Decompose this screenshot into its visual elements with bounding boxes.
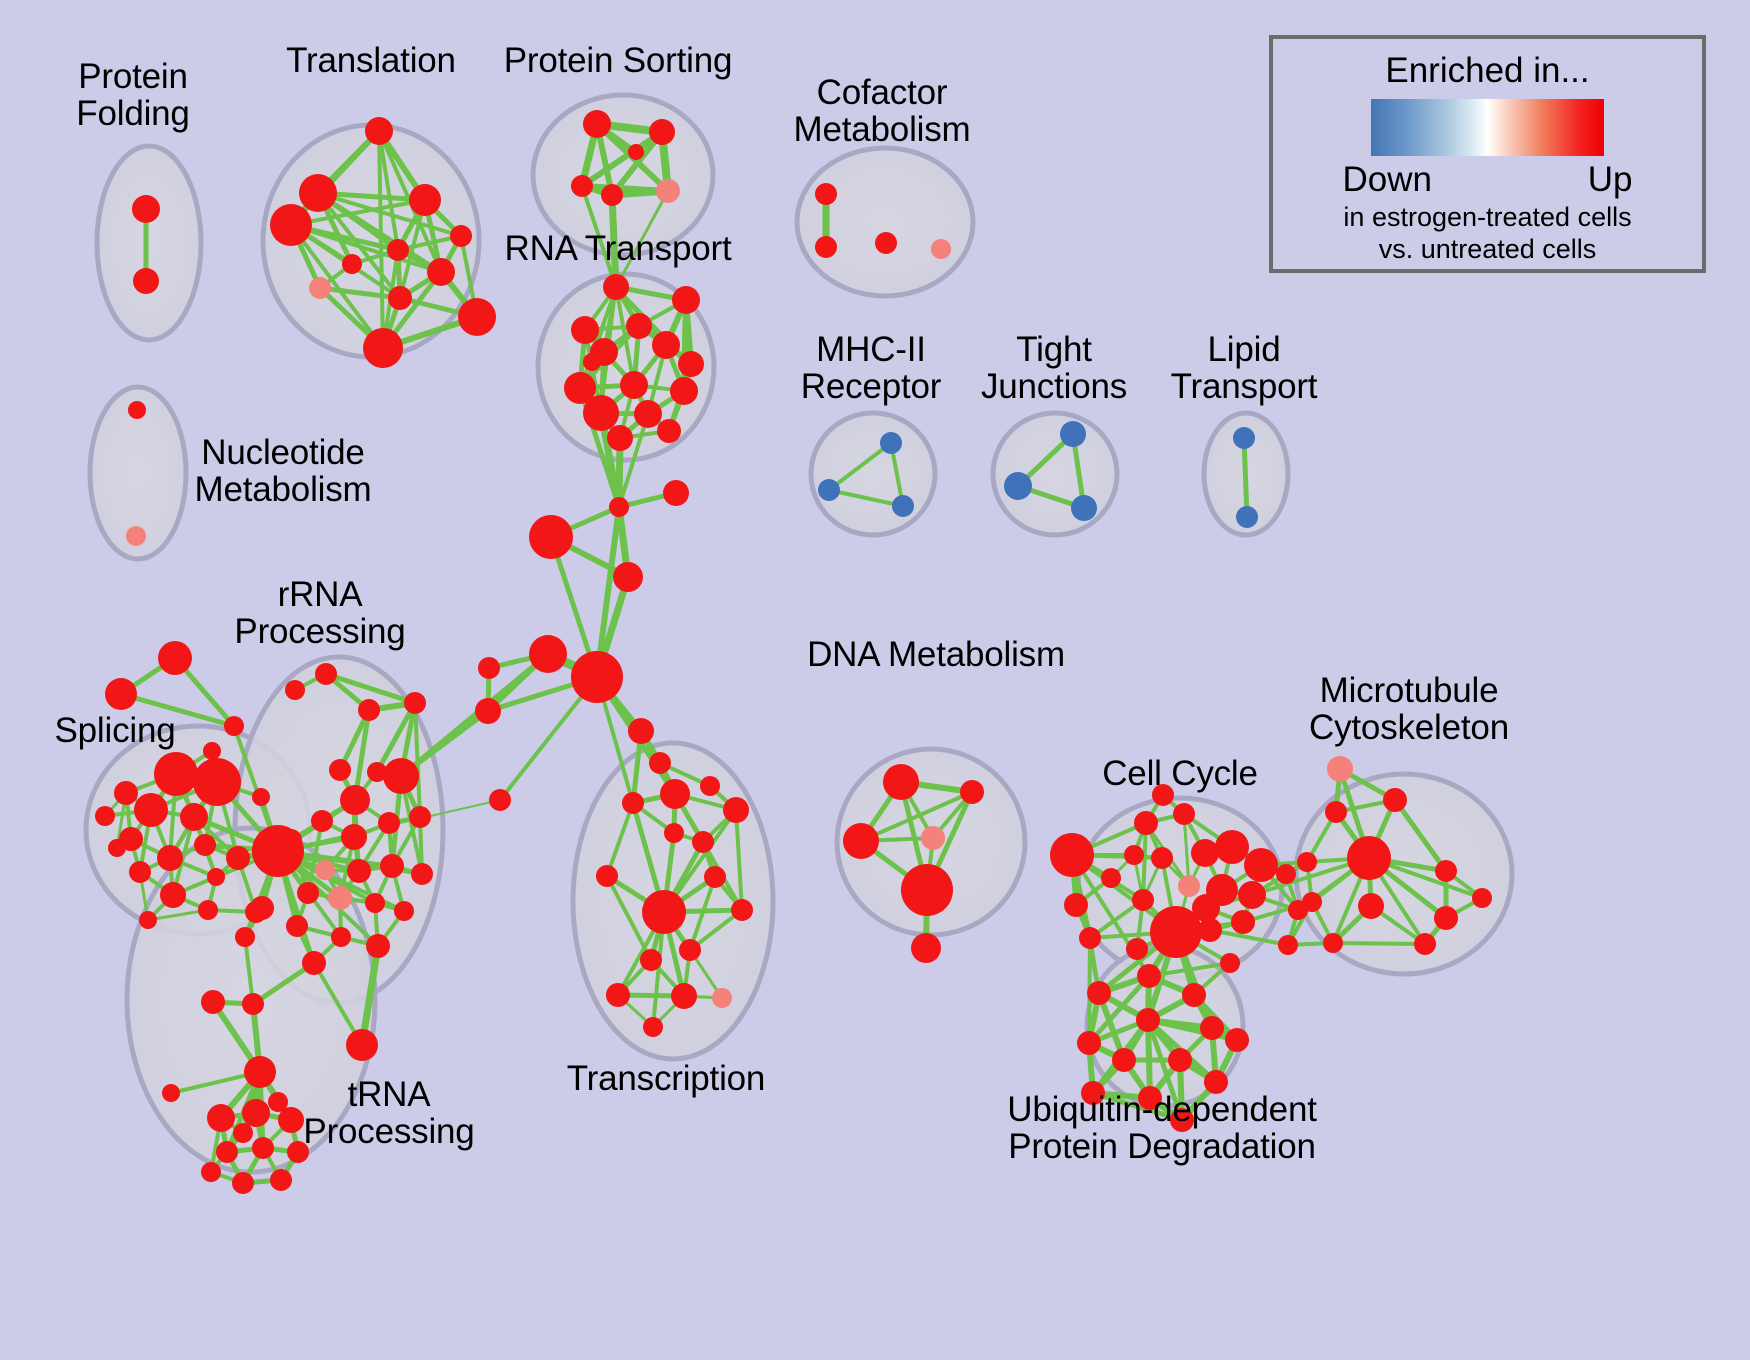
gene-set-node[interactable] (1244, 848, 1278, 882)
gene-set-node[interactable] (1137, 964, 1161, 988)
gene-set-node[interactable] (652, 331, 680, 359)
gene-set-node[interactable] (620, 371, 648, 399)
gene-set-node[interactable] (268, 1092, 288, 1112)
gene-set-node[interactable] (358, 699, 380, 721)
gene-set-node[interactable] (704, 866, 726, 888)
gene-set-node[interactable] (489, 789, 511, 811)
gene-set-node[interactable] (252, 788, 270, 806)
gene-set-node[interactable] (1225, 1028, 1249, 1052)
gene-set-node[interactable] (596, 865, 618, 887)
gene-set-node[interactable] (607, 425, 633, 451)
gene-set-node[interactable] (242, 993, 264, 1015)
gene-set-node[interactable] (180, 803, 208, 831)
gene-set-node[interactable] (475, 698, 501, 724)
gene-set-node[interactable] (571, 316, 599, 344)
gene-set-node[interactable] (583, 110, 611, 138)
gene-set-node[interactable] (1077, 1031, 1101, 1055)
gene-set-node[interactable] (270, 1169, 292, 1191)
gene-set-node[interactable] (901, 864, 953, 916)
gene-set-node[interactable] (672, 286, 700, 314)
gene-set-node[interactable] (815, 236, 837, 258)
gene-set-node[interactable] (1327, 756, 1353, 782)
gene-set-node[interactable] (892, 495, 914, 517)
gene-set-node[interactable] (1151, 847, 1173, 869)
gene-set-node[interactable] (404, 692, 426, 714)
gene-set-node[interactable] (1233, 427, 1255, 449)
gene-set-node[interactable] (1079, 927, 1101, 949)
gene-set-node[interactable] (105, 678, 137, 710)
gene-set-node[interactable] (657, 419, 681, 443)
gene-set-node[interactable] (1236, 506, 1258, 528)
gene-set-node[interactable] (1278, 935, 1298, 955)
gene-set-node[interactable] (1204, 1070, 1228, 1094)
gene-set-node[interactable] (478, 657, 500, 679)
gene-set-node[interactable] (1325, 801, 1347, 823)
cluster-hull-protein-sorting[interactable] (533, 95, 713, 255)
gene-set-node[interactable] (1134, 811, 1158, 835)
gene-set-node[interactable] (1414, 933, 1436, 955)
gene-set-node[interactable] (628, 144, 644, 160)
gene-set-node[interactable] (201, 1162, 221, 1182)
legend-title: Enriched in... (1385, 51, 1589, 91)
gene-set-node[interactable] (129, 861, 151, 883)
gene-set-node[interactable] (1132, 889, 1154, 911)
gene-set-node[interactable] (1434, 906, 1458, 930)
enrichment-map-figure: ProteinFoldingTranslationProtein Sorting… (0, 0, 1750, 1360)
gene-set-node[interactable] (342, 254, 362, 274)
gene-set-node[interactable] (723, 797, 749, 823)
cluster-hull-protein-folding[interactable] (97, 146, 201, 340)
gene-set-node[interactable] (692, 831, 714, 853)
gene-set-node[interactable] (134, 793, 168, 827)
gene-set-node[interactable] (347, 859, 371, 883)
gene-set-node[interactable] (309, 277, 331, 299)
gene-set-node[interactable] (609, 497, 629, 517)
gene-set-node[interactable] (1276, 864, 1296, 884)
gene-set-node[interactable] (366, 934, 390, 958)
gene-set-node[interactable] (252, 1137, 274, 1159)
gene-set-node[interactable] (133, 268, 159, 294)
gene-set-node[interactable] (232, 1172, 254, 1194)
gene-set-node[interactable] (1060, 421, 1086, 447)
gene-set-node[interactable] (656, 179, 680, 203)
gene-set-node[interactable] (875, 232, 897, 254)
gene-set-node[interactable] (663, 480, 689, 506)
gene-set-node[interactable] (1323, 933, 1343, 953)
gene-set-node[interactable] (409, 806, 431, 828)
gene-set-node[interactable] (815, 183, 837, 205)
legend-low-label: Down (1343, 160, 1432, 200)
gene-set-node[interactable] (960, 780, 984, 804)
gene-set-node[interactable] (606, 983, 630, 1007)
gene-set-node[interactable] (603, 274, 629, 300)
gene-set-node[interactable] (1435, 860, 1457, 882)
gene-set-node[interactable] (1192, 894, 1220, 922)
gene-set-node[interactable] (1347, 836, 1391, 880)
gene-set-node[interactable] (409, 184, 441, 216)
gene-set-node[interactable] (378, 812, 400, 834)
gene-set-node[interactable] (1064, 893, 1088, 917)
gene-set-node[interactable] (224, 716, 244, 736)
gene-set-node[interactable] (160, 882, 186, 908)
gene-set-node[interactable] (244, 1056, 276, 1088)
gene-set-node[interactable] (194, 834, 216, 856)
gene-set-node[interactable] (1136, 1008, 1160, 1032)
gene-set-node[interactable] (302, 951, 326, 975)
gene-set-node[interactable] (341, 824, 367, 850)
gene-set-node[interactable] (818, 479, 840, 501)
legend-sublabel-line1: in estrogen-treated cells (1343, 202, 1631, 232)
gene-set-node[interactable] (365, 893, 385, 913)
gene-set-node[interactable] (1220, 953, 1240, 973)
gene-set-node[interactable] (1101, 868, 1121, 888)
gene-set-node[interactable] (571, 175, 593, 197)
gene-set-node[interactable] (95, 806, 115, 826)
gene-set-node[interactable] (299, 174, 337, 212)
gene-set-node[interactable] (387, 239, 409, 261)
gene-set-node[interactable] (529, 635, 567, 673)
gene-set-node[interactable] (233, 1123, 253, 1143)
gene-set-node[interactable] (158, 641, 192, 675)
gene-set-node[interactable] (1170, 1108, 1194, 1132)
gene-set-node[interactable] (201, 990, 225, 1014)
gene-set-node[interactable] (1178, 875, 1200, 897)
gene-set-node[interactable] (250, 896, 274, 920)
legend-color-gradient-bar (1371, 99, 1604, 156)
gene-set-node[interactable] (132, 195, 160, 223)
gene-set-node[interactable] (628, 718, 654, 744)
gene-set-node[interactable] (363, 328, 403, 368)
gene-set-node[interactable] (328, 886, 352, 910)
gene-set-node[interactable] (242, 1099, 270, 1127)
gene-set-node[interactable] (664, 823, 684, 843)
gene-set-node[interactable] (1238, 881, 1266, 909)
gene-set-node[interactable] (450, 225, 472, 247)
gene-set-node[interactable] (1182, 983, 1206, 1007)
gene-set-node[interactable] (642, 890, 686, 934)
gene-set-node[interactable] (216, 1141, 238, 1163)
gene-set-node[interactable] (1358, 893, 1384, 919)
gene-set-node[interactable] (365, 117, 393, 145)
gene-set-node[interactable] (670, 377, 698, 405)
gene-set-node[interactable] (1198, 918, 1222, 942)
gene-set-node[interactable] (207, 1104, 235, 1132)
gene-set-node[interactable] (383, 758, 419, 794)
gene-set-node[interactable] (1152, 784, 1174, 806)
gene-set-node[interactable] (252, 825, 304, 877)
gene-set-node[interactable] (162, 1084, 180, 1102)
gene-set-node[interactable] (380, 854, 404, 878)
gene-set-node[interactable] (1231, 910, 1255, 934)
gene-set-node[interactable] (388, 286, 412, 310)
edge (1333, 943, 1425, 944)
gene-set-node[interactable] (1126, 938, 1148, 960)
gene-set-node[interactable] (643, 1017, 663, 1037)
gene-set-node[interactable] (1297, 852, 1317, 872)
gene-set-node[interactable] (203, 742, 221, 760)
gene-set-node[interactable] (1004, 472, 1032, 500)
gene-set-node[interactable] (235, 927, 255, 947)
legend-endpoints: Down Up (1343, 160, 1633, 200)
gene-set-node[interactable] (1302, 892, 1322, 912)
gene-set-node[interactable] (340, 785, 370, 815)
gene-set-node[interactable] (108, 839, 126, 857)
gene-set-node[interactable] (649, 119, 675, 145)
gene-set-node[interactable] (1124, 845, 1144, 865)
gene-set-node[interactable] (1071, 495, 1097, 521)
gene-set-node[interactable] (157, 845, 183, 871)
gene-set-node[interactable] (114, 781, 138, 805)
gene-set-node[interactable] (622, 792, 644, 814)
gene-set-node[interactable] (649, 752, 671, 774)
gene-set-node[interactable] (678, 351, 704, 377)
gene-set-node[interactable] (712, 988, 732, 1008)
gene-set-node[interactable] (931, 239, 951, 259)
gene-set-node[interactable] (583, 395, 619, 431)
gene-set-node[interactable] (226, 846, 250, 870)
legend-high-label: Up (1588, 160, 1633, 200)
gene-set-node[interactable] (1081, 1081, 1105, 1105)
gene-set-node[interactable] (613, 562, 643, 592)
gene-set-node[interactable] (1191, 839, 1219, 867)
gene-set-node[interactable] (601, 184, 623, 206)
gene-set-node[interactable] (315, 663, 337, 685)
legend-sublabel-line2: vs. untreated cells (1379, 234, 1597, 264)
legend-panel: Enriched in... Down Up in estrogen-treat… (1269, 35, 1706, 273)
gene-set-node[interactable] (1200, 1016, 1224, 1040)
gene-set-node[interactable] (1173, 803, 1195, 825)
gene-set-node[interactable] (1112, 1048, 1136, 1072)
gene-set-node[interactable] (571, 651, 623, 703)
gene-set-node[interactable] (331, 927, 351, 947)
gene-set-node[interactable] (287, 1141, 309, 1163)
gene-set-node[interactable] (911, 933, 941, 963)
gene-set-node[interactable] (329, 759, 351, 781)
gene-set-node[interactable] (411, 863, 433, 885)
gene-set-node[interactable] (529, 515, 573, 559)
gene-set-node[interactable] (626, 313, 652, 339)
gene-set-node[interactable] (286, 915, 308, 937)
gene-set-node[interactable] (128, 401, 146, 419)
gene-set-node[interactable] (297, 882, 319, 904)
cluster-hull-mhc-ii-receptor[interactable] (811, 413, 935, 535)
gene-set-node[interactable] (139, 911, 157, 929)
gene-set-node[interactable] (883, 764, 919, 800)
gene-set-node[interactable] (634, 400, 662, 428)
gene-set-node[interactable] (1087, 981, 1111, 1005)
gene-set-node[interactable] (346, 1029, 378, 1061)
gene-set-node[interactable] (1168, 1048, 1192, 1072)
gene-set-node[interactable] (660, 779, 690, 809)
gene-set-node[interactable] (1050, 833, 1094, 877)
gene-set-node[interactable] (193, 758, 241, 806)
gene-set-node[interactable] (154, 752, 198, 796)
gene-set-node[interactable] (207, 868, 225, 886)
gene-set-node[interactable] (198, 900, 218, 920)
gene-set-node[interactable] (1138, 1086, 1162, 1110)
gene-set-node[interactable] (1472, 888, 1492, 908)
gene-set-node[interactable] (285, 680, 305, 700)
gene-set-node[interactable] (640, 949, 662, 971)
gene-set-node[interactable] (679, 939, 701, 961)
gene-set-node[interactable] (126, 526, 146, 546)
gene-set-node[interactable] (1215, 830, 1249, 864)
gene-set-node[interactable] (394, 901, 414, 921)
gene-set-node[interactable] (270, 204, 312, 246)
gene-set-node[interactable] (1383, 788, 1407, 812)
edge (1244, 438, 1247, 517)
gene-set-node[interactable] (731, 899, 753, 921)
gene-set-node[interactable] (921, 826, 945, 850)
gene-set-node[interactable] (880, 432, 902, 454)
gene-set-node[interactable] (671, 983, 697, 1009)
gene-set-node[interactable] (583, 353, 601, 371)
gene-set-node[interactable] (843, 823, 879, 859)
gene-set-node[interactable] (315, 860, 335, 880)
gene-set-node[interactable] (458, 298, 496, 336)
gene-set-node[interactable] (311, 810, 333, 832)
gene-set-node[interactable] (427, 258, 455, 286)
gene-set-node[interactable] (700, 776, 720, 796)
edge (612, 195, 616, 287)
